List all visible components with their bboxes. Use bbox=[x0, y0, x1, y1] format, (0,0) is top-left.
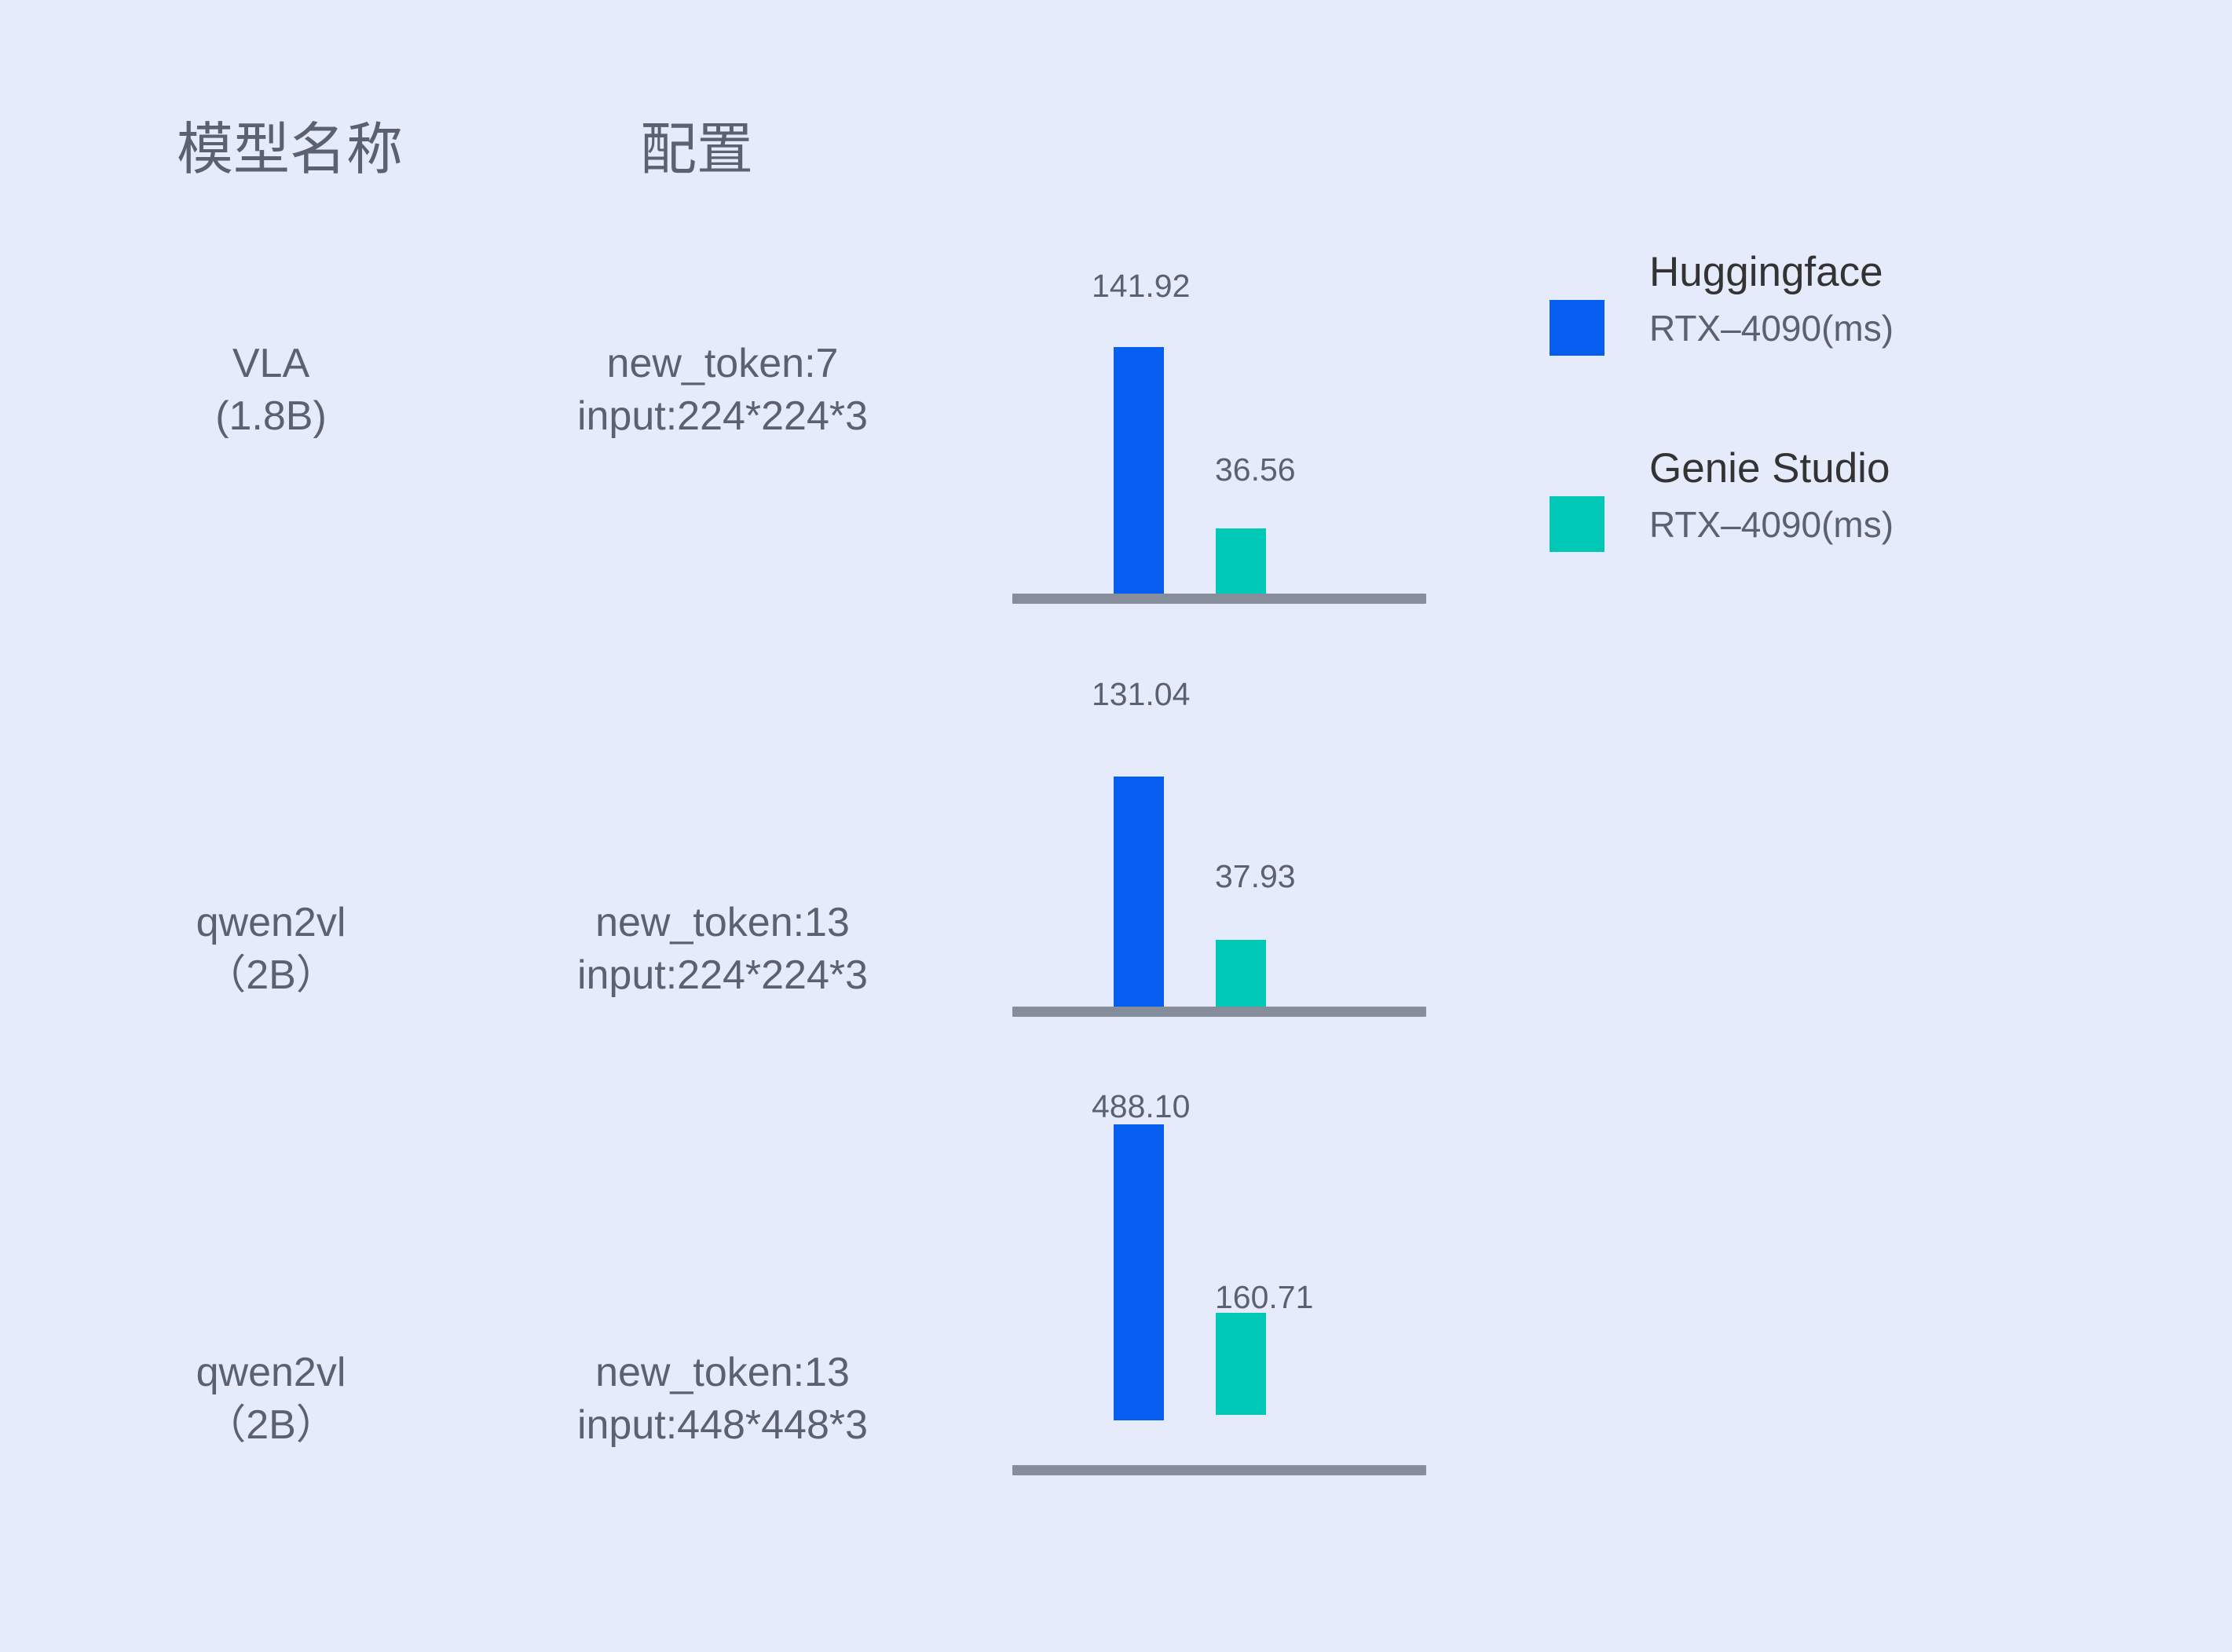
cell-config: new_token:13 input:224*224*3 bbox=[487, 897, 958, 1001]
legend-swatch-teal-icon bbox=[1550, 496, 1604, 552]
bar-huggingface bbox=[1114, 347, 1164, 594]
table-row: qwen2vl （2B） new_token:13 input:224*224*… bbox=[0, 722, 2232, 1052]
bar-huggingface bbox=[1114, 1124, 1164, 1420]
bar-genie-studio bbox=[1216, 940, 1266, 1007]
config-input-shape: input:224*224*3 bbox=[487, 390, 958, 443]
legend-series-unit: RTX–4090(ms) bbox=[1649, 506, 2089, 543]
legend-series-name: Genie Studio bbox=[1649, 448, 2089, 489]
config-new-token: new_token:13 bbox=[487, 897, 958, 949]
mini-bar-chart: 488.10 160.71 bbox=[1012, 1119, 1426, 1480]
cell-model-name: qwen2vl （2B） bbox=[149, 1347, 393, 1451]
model-name-line-1: qwen2vl bbox=[149, 1347, 393, 1399]
bar-genie-studio bbox=[1216, 528, 1266, 594]
bar-value-label-genie-studio: 36.56 bbox=[1215, 454, 1296, 486]
cell-model-name: VLA (1.8B) bbox=[149, 338, 393, 442]
bar-value-label-huggingface: 488.10 bbox=[1092, 1091, 1190, 1123]
model-name-line-1: qwen2vl bbox=[149, 897, 393, 949]
table-row: qwen2vl （2B） new_token:13 input:448*448*… bbox=[0, 1119, 2232, 1472]
mini-bar-chart: 141.92 36.56 bbox=[1012, 298, 1426, 628]
config-new-token: new_token:7 bbox=[487, 338, 958, 390]
mini-bar-chart: 131.04 37.93 bbox=[1012, 722, 1426, 1052]
bar-value-label-genie-studio: 37.93 bbox=[1215, 861, 1296, 893]
cell-model-name: qwen2vl （2B） bbox=[149, 897, 393, 1001]
legend-item-huggingface[interactable]: Huggingface RTX–4090(ms) bbox=[1543, 251, 2093, 393]
config-input-shape: input:224*224*3 bbox=[487, 949, 958, 1002]
legend-series-unit: RTX–4090(ms) bbox=[1649, 310, 2089, 346]
model-size-line-2: (1.8B) bbox=[149, 390, 393, 443]
legend-label-group: Genie Studio RTX–4090(ms) bbox=[1649, 448, 2089, 543]
model-name-line-1: VLA bbox=[149, 338, 393, 390]
chart-baseline bbox=[1012, 594, 1426, 604]
bar-value-label-genie-studio: 160.71 bbox=[1215, 1281, 1313, 1314]
bar-value-label-huggingface: 131.04 bbox=[1092, 678, 1190, 711]
bar-huggingface bbox=[1114, 777, 1164, 1007]
bar-value-label-huggingface: 141.92 bbox=[1092, 270, 1190, 302]
chart-baseline bbox=[1012, 1465, 1426, 1475]
legend-label-group: Huggingface RTX–4090(ms) bbox=[1649, 251, 2089, 346]
cell-config: new_token:13 input:448*448*3 bbox=[487, 1347, 958, 1451]
config-new-token: new_token:13 bbox=[487, 1347, 958, 1399]
bar-genie-studio bbox=[1216, 1313, 1266, 1415]
chart-baseline bbox=[1012, 1007, 1426, 1017]
legend-item-genie-studio[interactable]: Genie Studio RTX–4090(ms) bbox=[1543, 448, 2093, 589]
cell-config: new_token:7 input:224*224*3 bbox=[487, 338, 958, 442]
benchmark-rows: VLA (1.8B) new_token:7 input:224*224*3 1… bbox=[0, 0, 2232, 1652]
config-input-shape: input:448*448*3 bbox=[487, 1399, 958, 1452]
model-size-line-2: （2B） bbox=[149, 1399, 393, 1452]
model-size-line-2: （2B） bbox=[149, 949, 393, 1002]
legend-swatch-blue-icon bbox=[1550, 300, 1604, 356]
legend-series-name: Huggingface bbox=[1649, 251, 2089, 293]
